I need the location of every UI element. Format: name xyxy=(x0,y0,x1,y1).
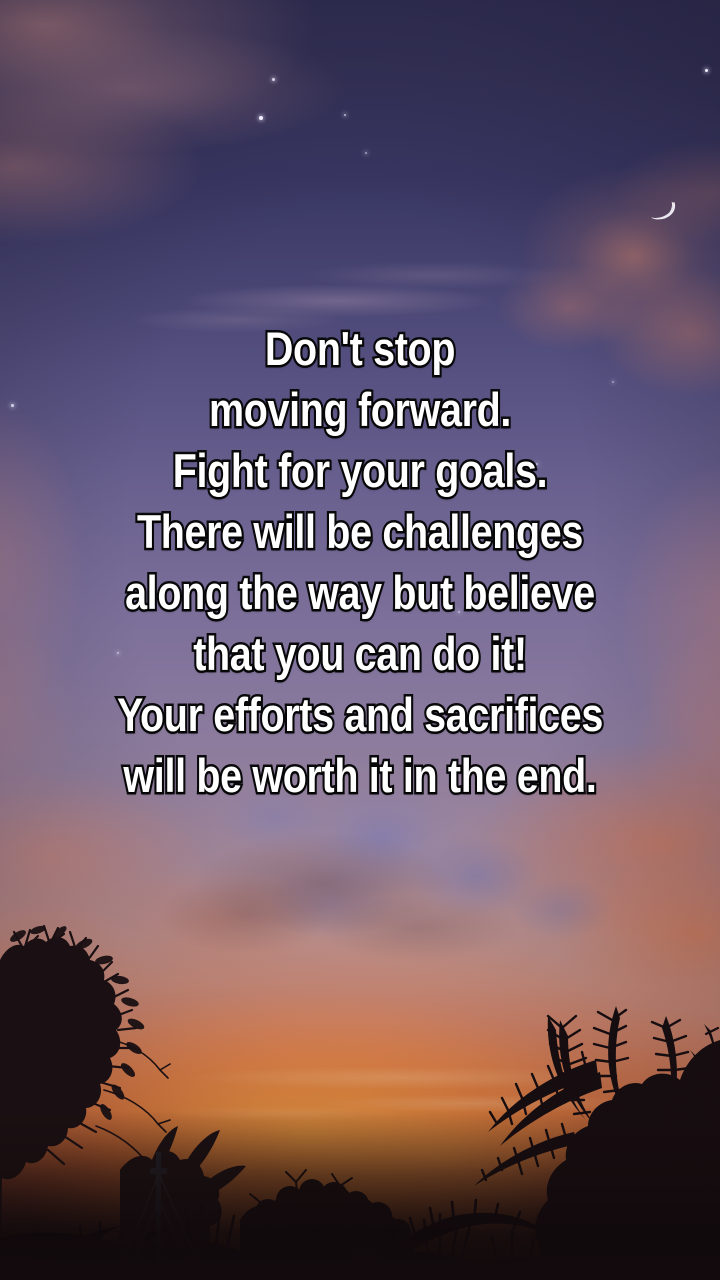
star-icon xyxy=(365,152,367,154)
quote-line: Don't stop xyxy=(58,318,663,379)
quote-line: Fight for your goals. xyxy=(58,440,663,501)
crescent-moon-icon xyxy=(650,200,680,226)
star-icon xyxy=(272,78,275,81)
quote-line: that you can do it! xyxy=(58,623,663,684)
quote-text-block: Don't stop moving forward. Fight for you… xyxy=(0,318,720,806)
quote-line: along the way but believe xyxy=(58,562,663,623)
foliage-silhouette xyxy=(0,920,720,1280)
star-icon xyxy=(344,114,346,116)
quote-line: moving forward. xyxy=(58,379,663,440)
star-icon xyxy=(259,116,263,120)
star-icon xyxy=(705,69,708,72)
quote-line: will be worth it in the end. xyxy=(58,745,663,806)
quote-line: Your efforts and sacrifices xyxy=(58,684,663,745)
quote-line: There will be challenges xyxy=(58,501,663,562)
quote-wallpaper: Don't stop moving forward. Fight for you… xyxy=(0,0,720,1280)
